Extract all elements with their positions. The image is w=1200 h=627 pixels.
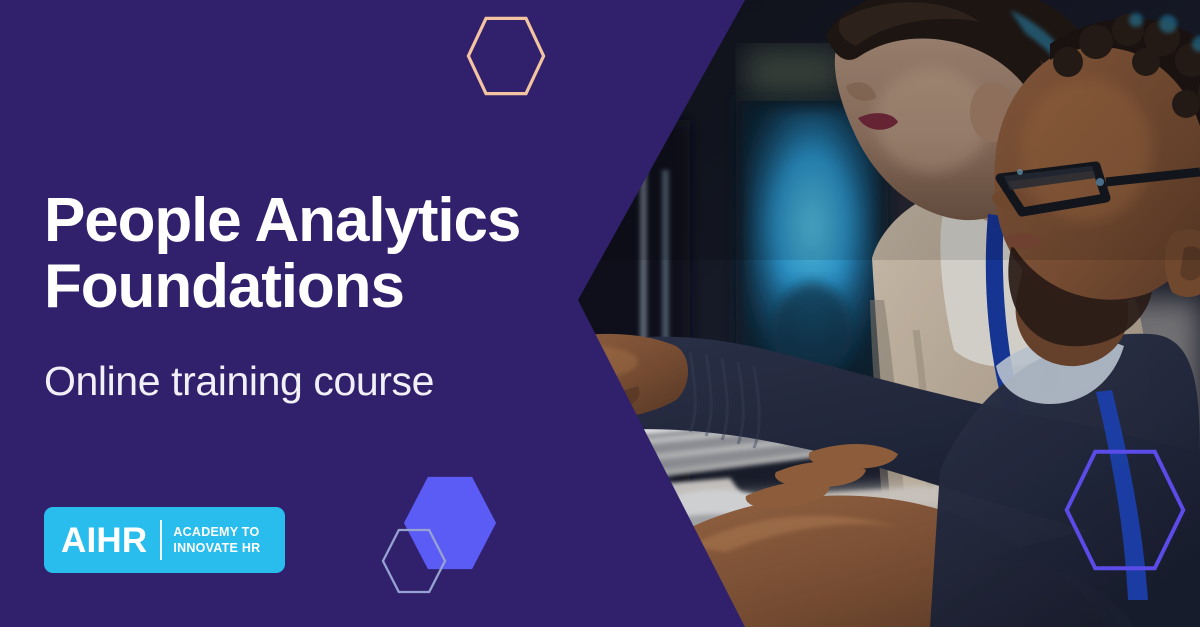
page-title: People Analytics Foundations xyxy=(44,188,584,319)
course-banner: People Analytics Foundations Online trai… xyxy=(0,0,1200,627)
aihr-logo[interactable]: AIHR ACADEMY TO INNOVATE HR xyxy=(44,507,285,573)
page-subtitle: Online training course xyxy=(44,358,584,405)
logo-tagline: ACADEMY TO INNOVATE HR xyxy=(173,524,260,556)
logo-wordmark: AIHR xyxy=(44,523,147,558)
hexagon-outline-photo-icon xyxy=(1060,448,1190,572)
logo-divider xyxy=(160,520,162,560)
